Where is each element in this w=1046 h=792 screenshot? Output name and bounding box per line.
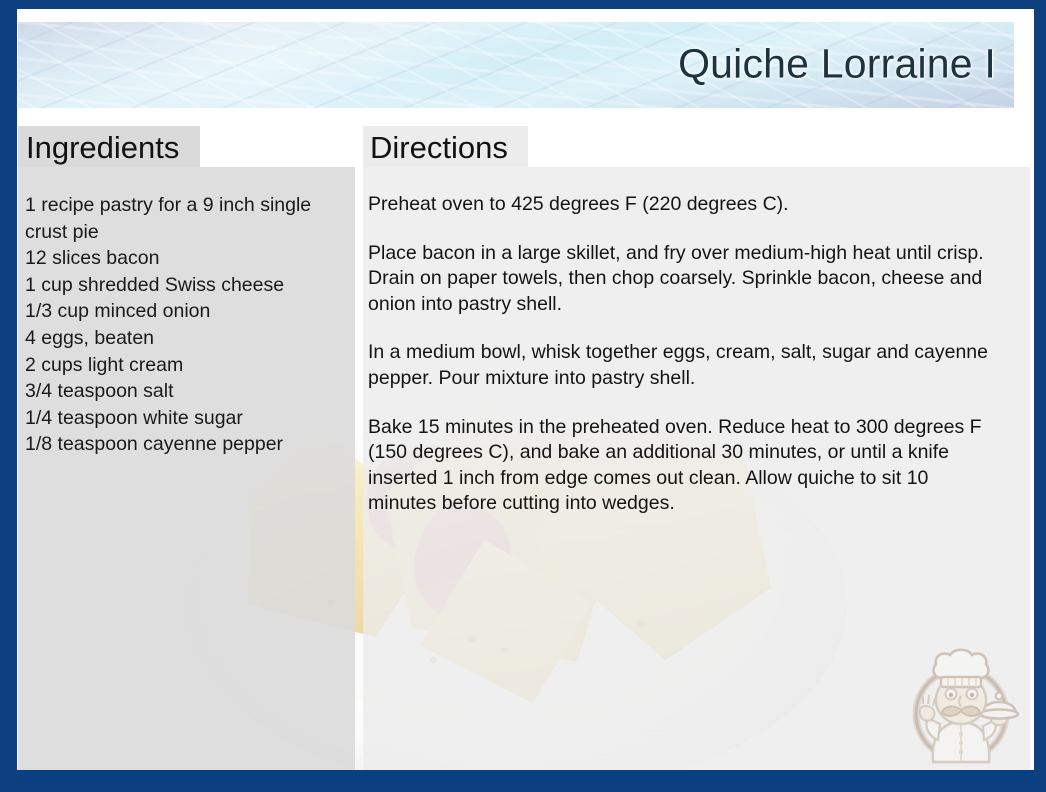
title-banner: Quiche Lorraine I xyxy=(18,22,1014,108)
list-item: 12 slices bacon xyxy=(25,245,349,272)
direction-step: Bake 15 minutes in the preheated oven. R… xyxy=(368,415,1002,517)
ingredients-heading: Ingredients xyxy=(26,130,179,166)
frame-bottom-edge xyxy=(0,783,1046,792)
direction-step: Place bacon in a large skillet, and fry … xyxy=(368,241,1002,318)
list-item: 3/4 teaspoon salt xyxy=(25,378,349,405)
list-item: 4 eggs, beaten xyxy=(25,325,349,352)
list-item: 1 cup shredded Swiss cheese xyxy=(25,272,349,299)
direction-step: Preheat oven to 425 degrees F (220 degre… xyxy=(368,192,1002,218)
frame-left-edge xyxy=(0,0,17,792)
list-item: 2 cups light cream xyxy=(25,352,349,379)
list-item: 1 recipe pastry for a 9 inch single crus… xyxy=(25,192,349,245)
page-title: Quiche Lorraine I xyxy=(678,42,996,87)
recipe-slide: Quiche Lorraine I Ingredients 1 recipe p… xyxy=(0,0,1046,792)
directions-list: Preheat oven to 425 degrees F (220 degre… xyxy=(368,192,1002,517)
ingredients-list: 1 recipe pastry for a 9 inch single crus… xyxy=(25,192,349,458)
frame-right-edge xyxy=(1034,0,1046,792)
directions-heading: Directions xyxy=(370,130,508,166)
frame-top-edge xyxy=(0,0,1046,9)
direction-step: In a medium bowl, whisk together eggs, c… xyxy=(368,340,1002,391)
list-item: 1/8 teaspoon cayenne pepper xyxy=(25,431,349,458)
list-item: 1/3 cup minced onion xyxy=(25,298,349,325)
list-item: 1/4 teaspoon white sugar xyxy=(25,405,349,432)
